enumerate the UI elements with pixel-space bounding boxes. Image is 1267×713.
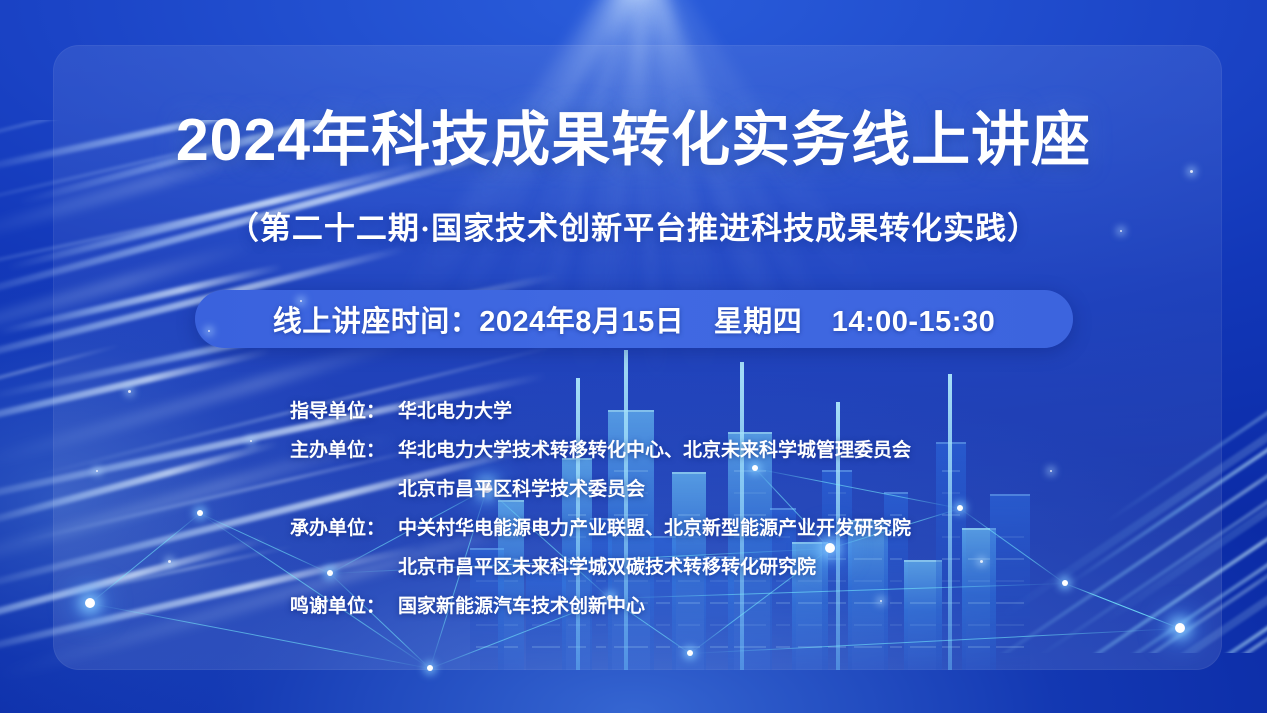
organization-label: 主办单位： (290, 435, 398, 462)
lecture-time-banner: 线上讲座时间：2024年8月15日 星期四 14:00-15:30 (195, 290, 1073, 348)
sparkle-dot (1120, 230, 1122, 232)
organization-value: 国家新能源汽车技术创新中心 (398, 591, 645, 618)
organization-label: 承办单位： (290, 513, 398, 540)
sparkle-dot (1050, 470, 1052, 472)
sparkle-dot (300, 300, 302, 302)
lecture-time-text: 线上讲座时间：2024年8月15日 星期四 14:00-15:30 (273, 298, 995, 340)
sparkle-dot (980, 560, 983, 563)
poster-canvas: 2024年科技成果转化实务线上讲座 （第二十二期·国家技术创新平台推进科技成果转… (0, 0, 1267, 713)
organization-label: 鸣谢单位： (290, 591, 398, 618)
page-title: 2024年科技成果转化实务线上讲座 (0, 92, 1267, 177)
organization-row: 指导单位：华北电力大学 (290, 390, 1050, 429)
organization-value: 北京市昌平区未来科学城双碳技术转移转化研究院 (398, 552, 816, 579)
sparkle-dot (250, 440, 252, 442)
sparkle-dot (168, 560, 171, 563)
organization-row: 承办单位：北京市昌平区未来科学城双碳技术转移转化研究院 (290, 546, 1050, 585)
organization-value: 华北电力大学技术转移转化中心、北京未来科学城管理委员会 (398, 435, 911, 462)
organization-value: 华北电力大学 (398, 396, 512, 423)
organization-value: 北京市昌平区科学技术委员会 (398, 474, 645, 501)
organization-row: 主办单位：北京市昌平区科学技术委员会 (290, 468, 1050, 507)
organization-row: 鸣谢单位：国家新能源汽车技术创新中心 (290, 585, 1050, 624)
sparkle-dot (880, 600, 882, 602)
poster-content: 2024年科技成果转化实务线上讲座 （第二十二期·国家技术创新平台推进科技成果转… (0, 0, 1267, 713)
page-subtitle: （第二十二期·国家技术创新平台推进科技成果转化实践） (0, 203, 1267, 248)
sparkle-dot (208, 330, 210, 332)
sparkle-dot (128, 390, 131, 393)
organization-row: 主办单位：华北电力大学技术转移转化中心、北京未来科学城管理委员会 (290, 429, 1050, 468)
organizations-list: 指导单位：华北电力大学主办单位：华北电力大学技术转移转化中心、北京未来科学城管理… (290, 390, 1050, 624)
organization-value: 中关村华电能源电力产业联盟、北京新型能源产业开发研究院 (398, 513, 911, 540)
organization-label: 指导单位： (290, 396, 398, 423)
sparkle-dot (1190, 170, 1193, 173)
sparkle-dot (96, 470, 98, 472)
organization-row: 承办单位：中关村华电能源电力产业联盟、北京新型能源产业开发研究院 (290, 507, 1050, 546)
